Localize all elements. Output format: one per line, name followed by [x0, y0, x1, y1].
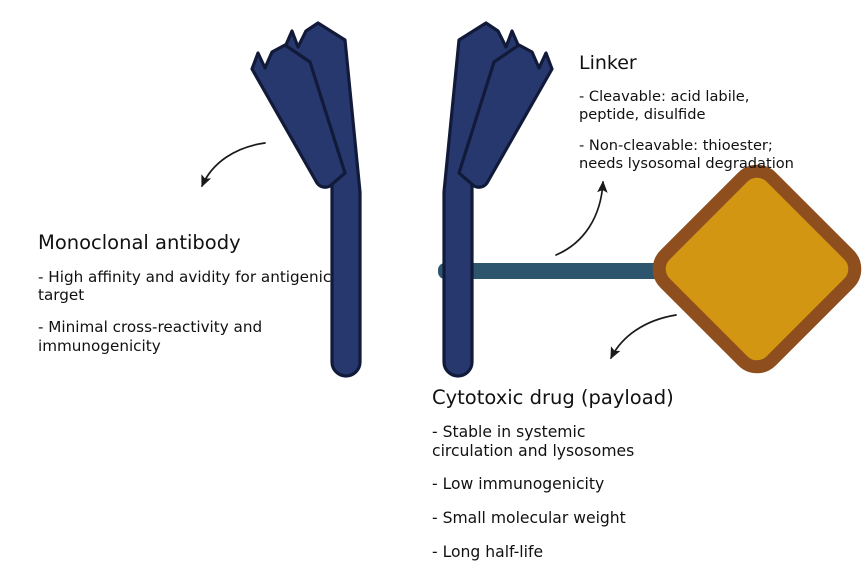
linker-bullet-2: - Non-cleavable: thioester; needs lysoso…	[579, 137, 847, 172]
monoclonal-antibody-bullet-1: - High affinity and avidity for antigeni…	[38, 268, 358, 304]
cytotoxic-drug-heading: Cytotoxic drug (payload)	[432, 386, 732, 409]
adc-diagram-canvas: Monoclonal antibody - High affinity and …	[0, 0, 868, 573]
monoclonal-antibody-label-block: Monoclonal antibody - High affinity and …	[38, 231, 358, 355]
cytotoxic-drug-label-block: Cytotoxic drug (payload) - Stable in sys…	[432, 386, 732, 562]
cytotoxic-drug-bullet-2: - Low immunogenicity	[432, 475, 732, 494]
cytotoxic-drug-bullet-1: - Stable in systemic circulation and lys…	[432, 423, 732, 460]
arrow-to-linker	[556, 182, 603, 255]
monoclonal-antibody-bullet-2: - Minimal cross-reactivity and immunogen…	[38, 318, 358, 354]
cytotoxic-drug-bullet-4: - Long half-life	[432, 543, 732, 562]
arrow-to-antibody	[202, 143, 265, 186]
cytotoxic-drug-bullet-3: - Small molecular weight	[432, 509, 732, 528]
cytotoxic-payload-shape	[651, 163, 863, 375]
linker-bullet-1: - Cleavable: acid labile, peptide, disul…	[579, 88, 847, 123]
linker-heading: Linker	[579, 52, 847, 74]
monoclonal-antibody-heading: Monoclonal antibody	[38, 231, 358, 254]
arrow-to-payload	[611, 315, 676, 358]
linker-label-block: Linker - Cleavable: acid labile, peptide…	[579, 52, 847, 172]
